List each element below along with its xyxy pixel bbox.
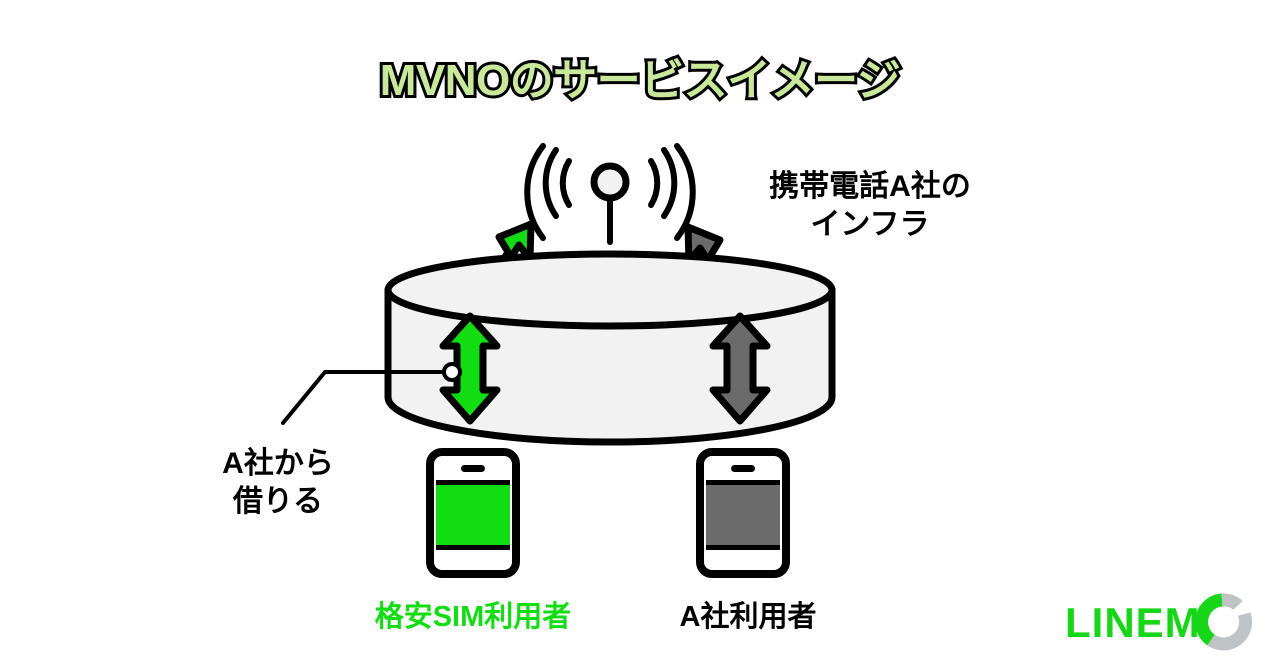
green-phone-screen-bottom-edge [436, 545, 510, 550]
leader-line-endpoint-dot [444, 364, 460, 380]
green-phone-screen-top-edge [436, 480, 510, 485]
green-phone-screen [436, 484, 510, 546]
smartphone-gray-icon [700, 452, 786, 574]
gray-phone-screen-bottom-edge [706, 545, 780, 550]
antenna-hub-circle [594, 166, 626, 198]
cylinder-top-ellipse [388, 254, 832, 326]
infrastructure-label-line1: 携帯電話A社の [769, 169, 971, 203]
smartphone-green-icon [430, 452, 516, 574]
green-phone-earpiece [461, 465, 485, 472]
linemo-wordmark: LINEM [1065, 599, 1201, 646]
borrow-label-line1: A社から [222, 447, 334, 480]
caption-company-a-user: A社利用者 [680, 600, 817, 633]
caption-cheap-sim-user: 格安SIM利用者 [375, 600, 572, 633]
gray-phone-screen-top-edge [706, 480, 780, 485]
diagram-canvas: MVNOのサービスイメージ [0, 0, 1280, 670]
page-title: MVNOのサービスイメージ [380, 56, 901, 105]
gray-phone-screen [706, 484, 780, 546]
gray-phone-earpiece [731, 465, 755, 472]
borrow-label-line2: 借りる [232, 485, 323, 518]
infrastructure-label-line2: インフラ [810, 208, 929, 241]
